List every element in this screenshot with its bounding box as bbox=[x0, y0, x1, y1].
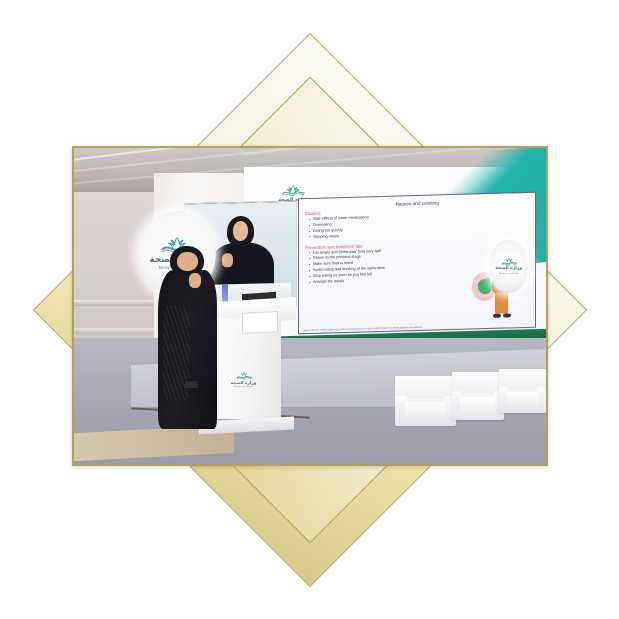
armchair bbox=[395, 376, 456, 427]
feed-speaker-face bbox=[232, 220, 248, 240]
speaker-face bbox=[177, 252, 198, 270]
illustration-shoe bbox=[493, 314, 501, 319]
illustration-shoe bbox=[503, 314, 511, 319]
screenshot-canvas: وزارة الصحة Ministry of Health Nausea an… bbox=[0, 0, 619, 619]
podium-moh-name-en: Ministry of Health bbox=[234, 386, 253, 388]
feed-speaker-hand bbox=[221, 253, 232, 267]
plaque-right-name-ar: وزارة الصحة bbox=[495, 267, 522, 271]
speaker-abaya bbox=[158, 270, 217, 429]
event-photograph: وزارة الصحة Ministry of Health Nausea an… bbox=[72, 146, 548, 466]
moh-plaque-right: وزارة الصحة Ministry of Health bbox=[489, 240, 528, 294]
moh-palm-swords-icon bbox=[235, 372, 253, 380]
speaker-hand bbox=[189, 273, 201, 288]
plaque-right-name-en: Ministry of Health bbox=[499, 273, 519, 275]
moh-palm-swords-icon bbox=[280, 185, 306, 197]
moh-palm-swords-icon bbox=[500, 258, 518, 266]
slide-causes-list: Side effects of some medications Overeat… bbox=[309, 211, 531, 241]
speaker-person bbox=[157, 246, 218, 429]
podium-moh-name-ar: وزارة الصحة bbox=[231, 381, 256, 385]
speaker-badge bbox=[185, 381, 198, 387]
podium-moh-logo: وزارة الصحة Ministry of Health bbox=[225, 365, 262, 395]
armchair bbox=[452, 372, 504, 419]
podium-event-badge bbox=[242, 311, 278, 333]
armchair bbox=[499, 369, 546, 413]
illustration-legs bbox=[495, 291, 509, 315]
